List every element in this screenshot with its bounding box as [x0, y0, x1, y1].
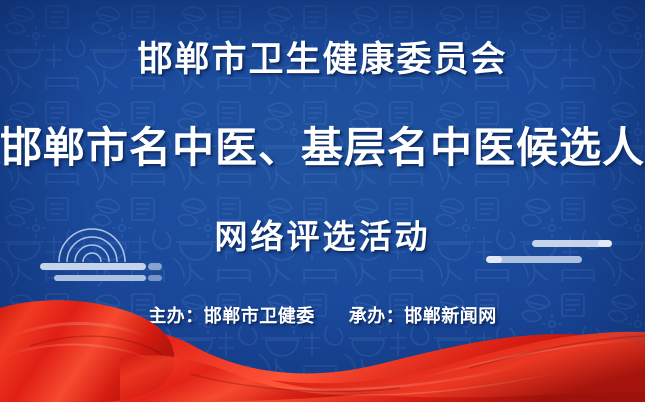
red-silk-ribbon — [0, 292, 645, 402]
poster-banner: 邯郸市卫生健康委员会 邯郸市名中医、基层名中医候选人 网络评选活动 主办：邯郸市… — [0, 0, 645, 402]
page-title-activity: 网络评选活动 — [0, 216, 645, 258]
page-title-main: 邯郸市名中医、基层名中医候选人 — [0, 122, 645, 174]
page-title-organization: 邯郸市卫生健康委员会 — [0, 38, 645, 82]
